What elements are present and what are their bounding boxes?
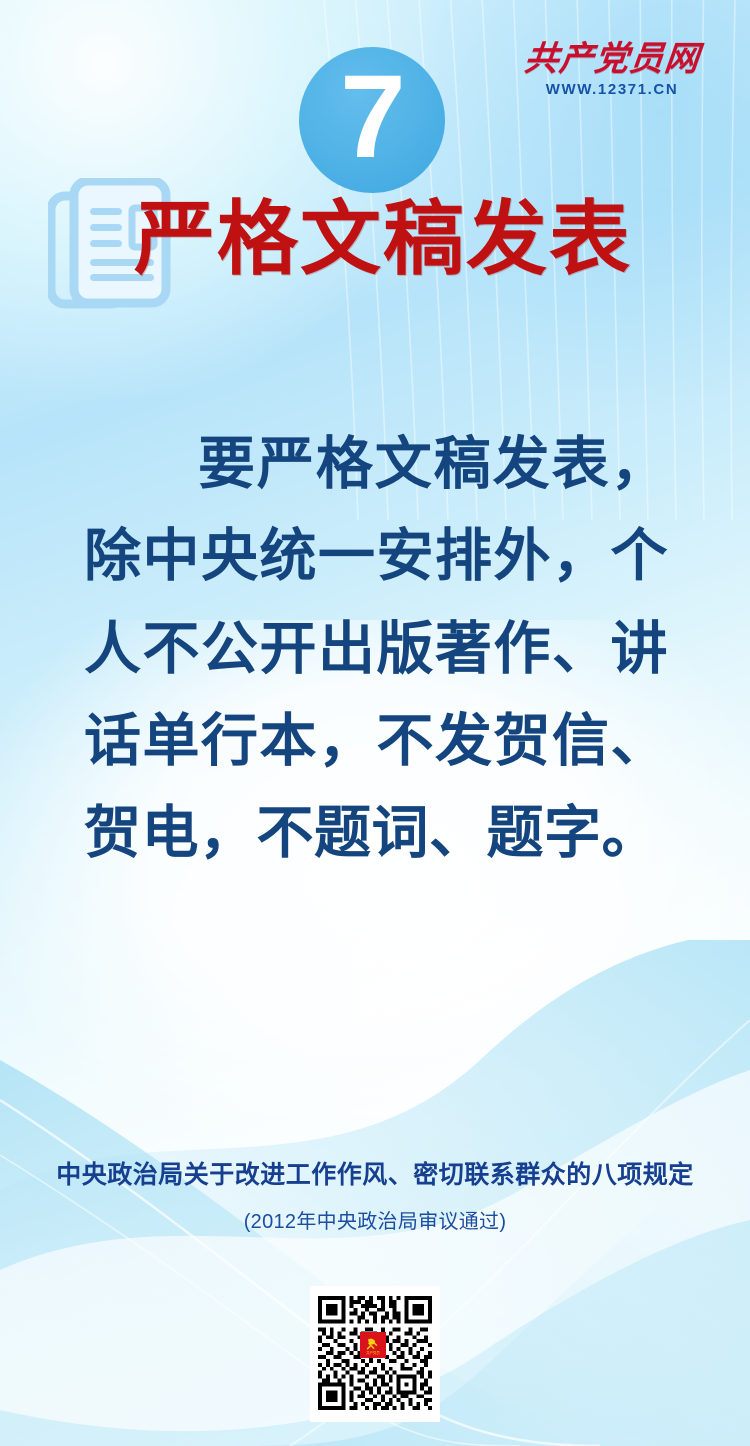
page-title: 严格文稿发表 [134, 196, 632, 285]
qr-code[interactable]: 共产党员 [310, 1286, 440, 1422]
footer-regulation-title: 中央政治局关于改进工作作风、密切联系群众的八项规定 [0, 1155, 750, 1191]
poster-canvas: 共产党员网 WWW.12371.CN 7 严格文稿发表 要严格文稿发表，除中央统… [0, 0, 750, 1446]
rule-number-badge: 7 [299, 47, 445, 193]
rule-number-value: 7 [340, 58, 404, 176]
site-logo[interactable]: 共产党员网 WWW.12371.CN [522, 40, 702, 98]
footer-regulation-subtitle: (2012年中央政治局审议通过) [0, 1205, 750, 1234]
logo-url: WWW.12371.CN [522, 81, 702, 98]
party-emblem-icon: 共产党员 [360, 1332, 386, 1358]
rule-body-text: 要严格文稿发表，除中央统一安排外，个人不公开出版著作、讲话单行本，不发贺信、贺电… [84, 418, 668, 880]
logo-wordmark: 共产党员网 [520, 40, 704, 79]
svg-text:共产党员: 共产党员 [366, 1350, 380, 1355]
